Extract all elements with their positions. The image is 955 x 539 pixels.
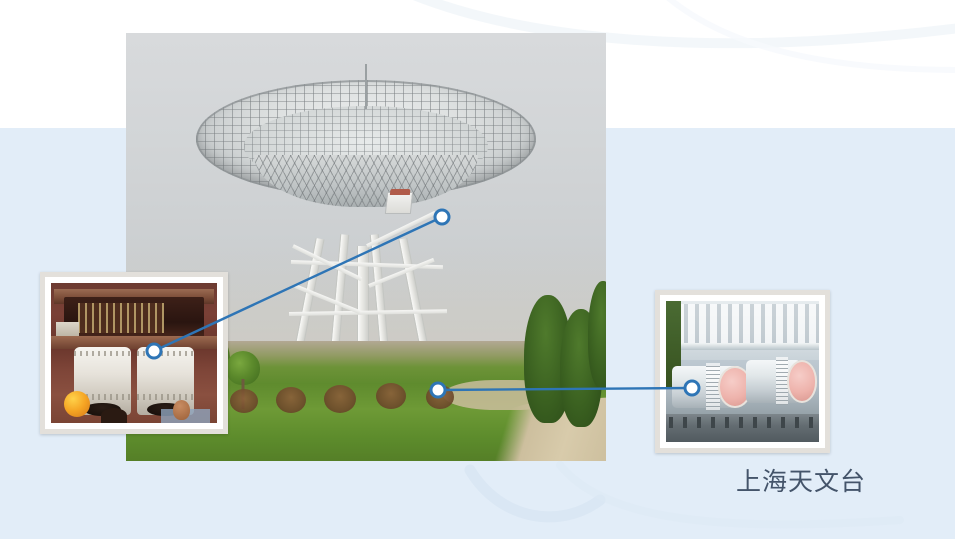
photo-caption: 上海天文台 [736,468,866,498]
telescope-dish [196,80,536,210]
receiver-cabin [385,192,413,214]
shrub-row-c [276,387,306,413]
dish-backup-structure [254,155,478,207]
feed-mast-icon [365,64,367,108]
inset-right-image [666,301,819,442]
worker-figure [173,400,190,420]
drive-cap-right [787,360,818,402]
shrub-row-e [376,383,406,409]
shrub-row-d [324,385,356,413]
slide-canvas: 上海天文台 [0,0,955,539]
shrub-row-b [230,389,258,413]
inset-photo-left [40,272,228,434]
inset-photo-right [655,290,830,453]
inset-left-image [51,283,217,423]
shrub-row-f [426,385,454,409]
